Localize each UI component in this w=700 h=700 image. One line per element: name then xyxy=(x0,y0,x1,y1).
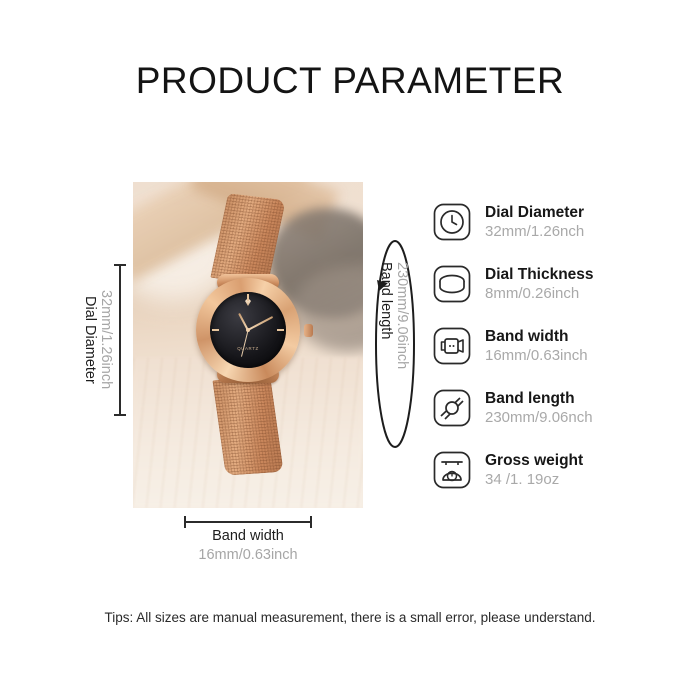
watch-case: QUARTZ xyxy=(196,278,300,382)
kitchen-scale-icon xyxy=(432,450,472,490)
watch-crown xyxy=(304,324,313,337)
band-width-measure-line xyxy=(184,521,312,523)
page-title: PRODUCT PARAMETER xyxy=(0,60,700,102)
spec-name-dial-diameter: Dial Diameter xyxy=(485,203,584,222)
spec-text-band-length: Band length 230mm/9.06nch xyxy=(485,389,593,427)
watch-band-upper xyxy=(210,193,286,285)
band-width-icon xyxy=(432,326,472,366)
hour-marker-3 xyxy=(212,329,219,331)
band-length-callout: Band length 230mm/9.06inch xyxy=(378,262,410,432)
hand-pivot xyxy=(246,328,250,332)
band-length-callout-value: 230mm/9.06inch xyxy=(394,262,410,369)
spec-text-dial-diameter: Dial Diameter 32mm/1.26nch xyxy=(485,203,584,241)
spec-name-band-width: Band width xyxy=(485,327,588,346)
band-width-callout-name: Band width xyxy=(140,527,356,546)
spec-value-band-length: 230mm/9.06nch xyxy=(485,408,593,427)
spec-row-dial-diameter: Dial Diameter 32mm/1.26nch xyxy=(432,199,662,245)
watch-dial: QUARTZ xyxy=(210,292,286,368)
dial-brand-text: QUARTZ xyxy=(210,346,286,351)
dial-diameter-callout-name: Dial Diameter xyxy=(82,296,98,384)
spec-value-dial-thickness: 8mm/0.26inch xyxy=(485,284,594,303)
disc-thickness-icon xyxy=(432,264,472,304)
spec-value-gross-weight: 34 /1. 19oz xyxy=(485,470,583,489)
watch-band-lower xyxy=(212,376,283,475)
spec-list: Dial Diameter 32mm/1.26nch Dial Thicknes… xyxy=(432,199,662,509)
hour-marker-6 xyxy=(247,294,249,301)
product-photo: QUARTZ xyxy=(133,182,363,508)
second-hand xyxy=(241,330,249,356)
spec-row-gross-weight: Gross weight 34 /1. 19oz xyxy=(432,447,662,493)
spec-row-band-width: Band width 16mm/0.63inch xyxy=(432,323,662,369)
band-width-callout-value: 16mm/0.63inch xyxy=(140,546,356,565)
spec-text-dial-thickness: Dial Thickness 8mm/0.26inch xyxy=(485,265,594,303)
spec-name-dial-thickness: Dial Thickness xyxy=(485,265,594,284)
dial-diameter-callout-value: 32mm/1.26inch xyxy=(98,290,114,389)
dial-diameter-measure-line xyxy=(119,264,121,416)
wristwatch: QUARTZ xyxy=(188,200,308,460)
band-length-icon xyxy=(432,388,472,428)
spec-row-band-length: Band length 230mm/9.06nch xyxy=(432,385,662,431)
spec-value-band-width: 16mm/0.63inch xyxy=(485,346,588,365)
spec-row-dial-thickness: Dial Thickness 8mm/0.26inch xyxy=(432,261,662,307)
band-length-callout-name: Band length xyxy=(378,262,394,339)
spec-text-gross-weight: Gross weight 34 /1. 19oz xyxy=(485,451,583,489)
spec-name-band-length: Band length xyxy=(485,389,593,408)
dial-diameter-callout: Dial Diameter 32mm/1.26inch xyxy=(78,264,118,416)
watch-dial-icon xyxy=(432,202,472,242)
tips-note: Tips: All sizes are manual measurement, … xyxy=(0,610,700,625)
spec-name-gross-weight: Gross weight xyxy=(485,451,583,470)
minute-hand xyxy=(248,316,274,331)
hour-marker-9 xyxy=(277,329,284,331)
spec-value-dial-diameter: 32mm/1.26nch xyxy=(485,222,584,241)
spec-text-band-width: Band width 16mm/0.63inch xyxy=(485,327,588,365)
band-width-callout: Band width 16mm/0.63inch xyxy=(140,527,356,565)
